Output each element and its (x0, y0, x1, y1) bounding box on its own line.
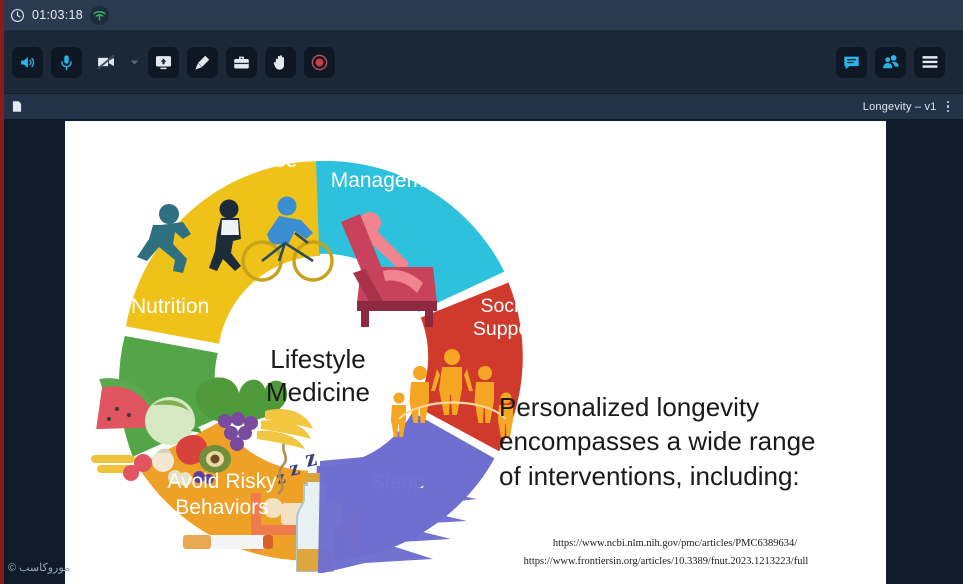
main-toolbar (0, 31, 963, 94)
status-bar: 01:03:18 (0, 0, 963, 31)
body-line-2: encompasses a wide range (499, 424, 859, 458)
menu-button[interactable] (914, 47, 945, 78)
watermark: موروکاسب © (8, 561, 70, 574)
svg-text:z: z (303, 444, 319, 473)
speaker-button[interactable] (12, 47, 43, 78)
briefcase-button[interactable] (226, 47, 257, 78)
pen-tool-button[interactable] (187, 47, 218, 78)
slide-stage: z z z (0, 119, 963, 584)
segment-label-avoid-risky: Avoid Risky (167, 470, 277, 493)
record-button[interactable] (304, 47, 335, 78)
wifi-signal-icon (90, 6, 109, 25)
kebab-menu-icon[interactable] (943, 98, 954, 116)
body-line-1: Personalized longevity (499, 390, 859, 424)
app-root: 01:03:18 (0, 0, 963, 584)
slide-references: https://www.ncbi.nlm.nih.gov/pmc/article… (475, 535, 875, 572)
screen-share-button[interactable] (148, 47, 179, 78)
toolbar-right-group (836, 47, 963, 78)
center-title-line1: Lifestyle (270, 344, 365, 374)
segment-label-social-support: Social (480, 295, 533, 317)
toolbar-left-group (0, 47, 335, 78)
presentation-slide[interactable]: z z z (65, 121, 886, 584)
microphone-button[interactable] (51, 47, 82, 78)
center-title-line2: Medicine (266, 377, 370, 407)
copyright-symbol: © (8, 562, 16, 574)
segment-label-exercise: Exercise (217, 149, 298, 172)
segment-label-nutrition: Nutrition (131, 295, 209, 318)
camera-options-chevron-down-icon[interactable] (129, 47, 140, 78)
lifestyle-medicine-donut-diagram: z z z (65, 121, 886, 584)
session-timer: 01:03:18 (32, 8, 83, 22)
body-line-3: of interventions, including: (499, 459, 859, 493)
raise-hand-button[interactable] (265, 47, 296, 78)
svg-text:Support: Support (473, 318, 542, 340)
left-edge-strip (0, 0, 4, 584)
chat-button[interactable] (836, 47, 867, 78)
file-title: Longevity – v1 (863, 101, 937, 113)
svg-text:Management: Management (331, 169, 454, 192)
file-bar-right: Longevity – v1 (863, 98, 963, 116)
slide-body-text: Personalized longevity encompasses a wid… (499, 390, 859, 493)
reference-link-1: https://www.ncbi.nlm.nih.gov/pmc/article… (475, 535, 875, 553)
reference-link-2: https://www.frontiersin.org/articles/10.… (457, 553, 875, 571)
camera-off-button[interactable] (90, 47, 121, 78)
segment-label-stress-management: Stress (362, 143, 422, 166)
participants-button[interactable] (875, 47, 906, 78)
watermark-text: موروکاسب (19, 561, 70, 574)
clock-icon (10, 8, 25, 23)
svg-text:Behaviors: Behaviors (175, 496, 268, 519)
file-bar: Longevity – v1 (0, 94, 963, 119)
